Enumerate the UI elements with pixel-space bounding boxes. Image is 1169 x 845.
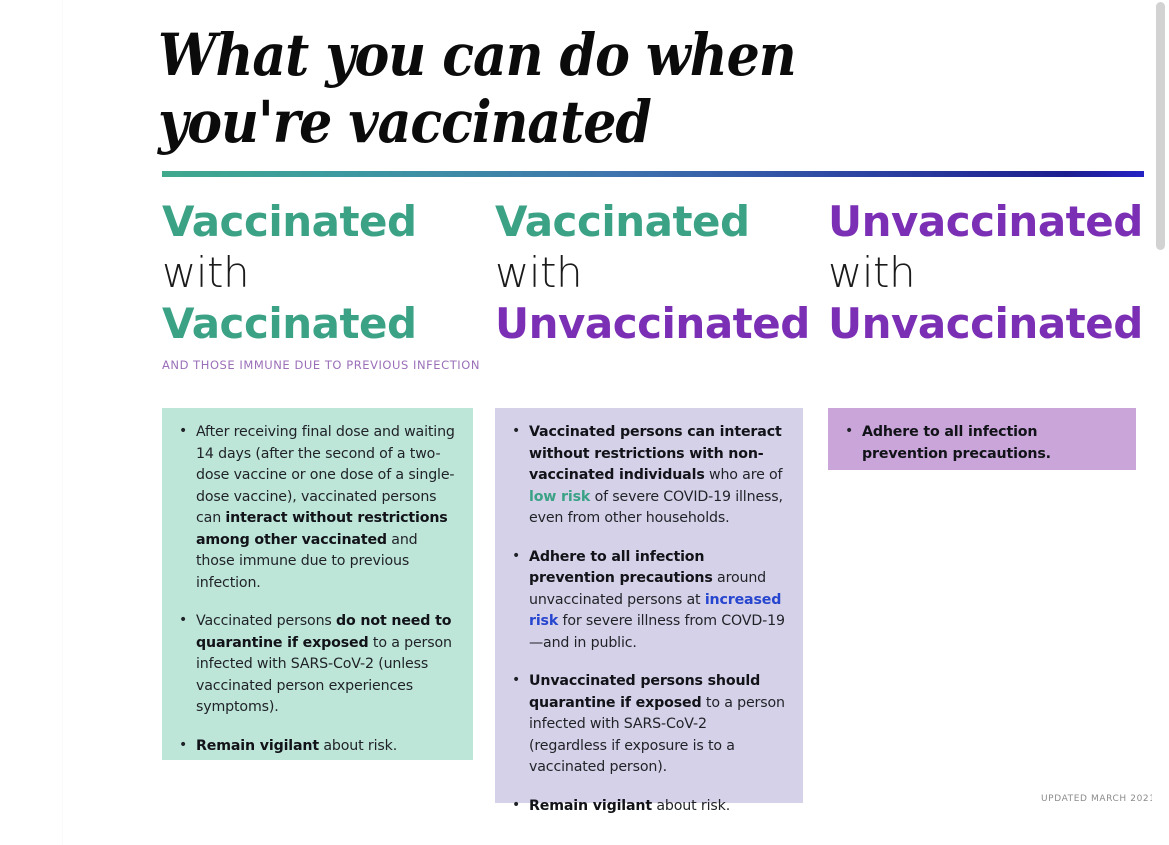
column-3-head-top: Unvaccinated [828, 196, 1148, 247]
screenshot-root: What you can do when you're vaccinated V… [0, 0, 1169, 845]
column-header-vaccinated-with-unvaccinated: Vaccinated with Unvaccinated [495, 196, 825, 349]
list-item: Vaccinated persons do not need to quaran… [176, 611, 455, 719]
column-1-head-connector: with [162, 247, 492, 298]
column-3-head-connector: with [828, 247, 1148, 298]
list-item: Remain vigilant about risk. [176, 736, 455, 758]
page-sheet: What you can do when you're vaccinated V… [62, 0, 1146, 845]
column-3-head-bottom: Unvaccinated [828, 298, 1148, 349]
bullet-list-column-3: Adhere to all infection prevention preca… [842, 422, 1118, 465]
list-item: Vaccinated persons can interact without … [509, 422, 785, 530]
guidance-panel-vaccinated-with-vaccinated: After receiving final dose and waiting 1… [162, 408, 473, 760]
vertical-scrollbar-track[interactable] [1152, 0, 1169, 845]
bullet-list-column-1: After receiving final dose and waiting 1… [176, 422, 455, 757]
list-item: Adhere to all infection prevention preca… [509, 547, 785, 655]
column-header-unvaccinated-with-unvaccinated: Unvaccinated with Unvaccinated [828, 196, 1148, 349]
list-item: Remain vigilant about risk. [509, 796, 785, 818]
columns-container: Vaccinated with Vaccinated AND THOSE IMM… [63, 0, 1169, 845]
column-1-subnote: AND THOSE IMMUNE DUE TO PREVIOUS INFECTI… [162, 358, 492, 372]
column-2-head-top: Vaccinated [495, 196, 825, 247]
column-header-vaccinated-with-vaccinated: Vaccinated with Vaccinated AND THOSE IMM… [162, 196, 492, 372]
column-1-head-bottom: Vaccinated [162, 298, 492, 349]
column-2-head-bottom: Unvaccinated [495, 298, 825, 349]
guidance-panel-unvaccinated-with-unvaccinated: Adhere to all infection prevention preca… [828, 408, 1136, 470]
vertical-scrollbar-thumb[interactable] [1156, 2, 1165, 250]
risk-level-increased: increased risk [529, 592, 781, 630]
guidance-panel-vaccinated-with-unvaccinated: Vaccinated persons can interact without … [495, 408, 803, 803]
column-2-head-connector: with [495, 247, 825, 298]
list-item: After receiving final dose and waiting 1… [176, 422, 455, 594]
list-item: Unvaccinated persons should quarantine i… [509, 671, 785, 779]
risk-level-low: low risk [529, 489, 590, 505]
column-1-head-top: Vaccinated [162, 196, 492, 247]
list-item: Adhere to all infection prevention preca… [842, 422, 1118, 465]
bullet-list-column-2: Vaccinated persons can interact without … [509, 422, 785, 817]
updated-date-note: UPDATED MARCH 2021 [1041, 794, 1156, 804]
